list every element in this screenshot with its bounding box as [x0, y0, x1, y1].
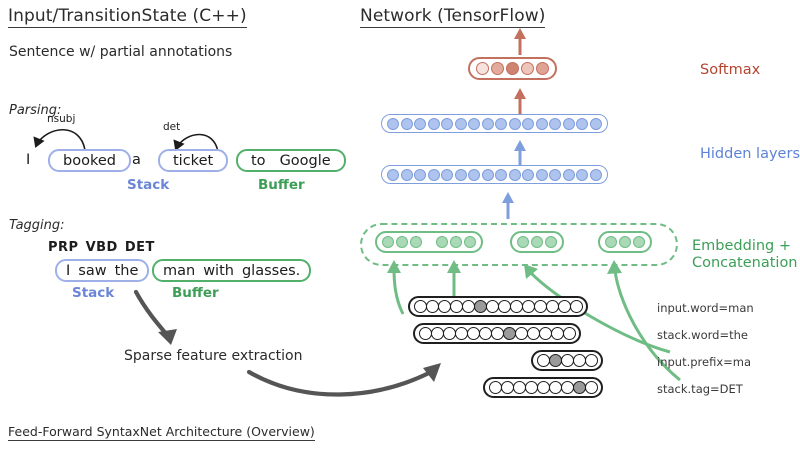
embedding-unit-0-1-1	[450, 236, 462, 248]
sparse-unit-3-3	[525, 381, 538, 394]
hidden-top-unit-7	[482, 118, 494, 130]
sparse-feature-row-3[interactable]	[483, 377, 603, 398]
embedding-unit-0-0-2	[410, 236, 422, 248]
hidden-top-unit-2	[414, 118, 426, 130]
hidden-bottom-unit-9	[509, 169, 521, 181]
softmax-unit-1	[491, 62, 504, 75]
embedding-group-2[interactable]	[598, 231, 652, 253]
subtitle-text: Sentence w/ partial annotations	[9, 44, 232, 60]
hidden-layers-label: Hidden layers	[700, 146, 800, 162]
softmax-label: Softmax	[700, 62, 760, 78]
tagging-stack-token-the: the	[111, 263, 143, 279]
embedding-segment-1-0	[517, 236, 557, 248]
sparse-unit-0-11	[546, 300, 559, 313]
pos-tag-det: DET	[125, 240, 155, 255]
embedding-unit-2-0-2	[633, 236, 645, 248]
parsing-token-i: I	[26, 152, 30, 168]
hidden-bottom-unit-13	[563, 169, 575, 181]
hidden-top-unit-0	[387, 118, 399, 130]
right-section-title: Network (TensorFlow)	[360, 6, 545, 28]
softmax-unit-4	[536, 62, 549, 75]
tagging-buffer-box[interactable]: man with glasses.	[152, 259, 311, 282]
arrow-embedding-hidden	[500, 192, 516, 220]
tagging-stack-token-saw: saw	[74, 263, 110, 279]
hidden-layer-top[interactable]	[381, 114, 608, 133]
hidden-top-unit-15	[590, 118, 602, 130]
hidden-top-unit-4	[441, 118, 453, 130]
softmax-unit-2	[506, 62, 519, 75]
embedding-unit-2-0-1	[619, 236, 631, 248]
tagging-buffer-token-glasses: glasses.	[238, 263, 304, 279]
arrow-hidden-bottom-top	[512, 140, 528, 168]
hidden-bottom-unit-15	[590, 169, 602, 181]
tagging-heading: Tagging:	[9, 218, 65, 233]
sparse-unit-2-1	[549, 354, 562, 367]
sparse-unit-1-6	[491, 327, 504, 340]
hidden-bottom-unit-3	[428, 169, 440, 181]
sparse-unit-0-12	[558, 300, 571, 313]
sparse-unit-3-1	[501, 381, 514, 394]
embedding-unit-0-1-0	[436, 236, 448, 248]
hidden-top-unit-3	[428, 118, 440, 130]
sparse-feature-row-2[interactable]	[531, 350, 603, 371]
sparse-unit-0-13	[570, 300, 583, 313]
parsing-buffer-token-google: Google	[276, 153, 335, 169]
embedding-unit-1-0-0	[517, 236, 529, 248]
sparse-unit-1-3	[455, 327, 468, 340]
sparse-unit-3-2	[513, 381, 526, 394]
hidden-bottom-unit-11	[536, 169, 548, 181]
sparse-unit-3-4	[537, 381, 550, 394]
hidden-bottom-unit-5	[455, 169, 467, 181]
parsing-buffer-label: Buffer	[258, 177, 305, 193]
sparse-feature-label-3: stack.tag=DET	[657, 382, 743, 396]
sparse-unit-0-10	[534, 300, 547, 313]
sparse-unit-1-10	[539, 327, 552, 340]
hidden-top-unit-9	[509, 118, 521, 130]
sparse-unit-1-9	[527, 327, 540, 340]
hidden-bottom-unit-10	[522, 169, 534, 181]
tagging-stack-token-i: I	[62, 263, 74, 279]
sparse-unit-0-8	[510, 300, 523, 313]
sparse-unit-3-8	[585, 381, 598, 394]
hidden-top-unit-6	[468, 118, 480, 130]
embedding-segment-0-0	[382, 236, 422, 248]
sparse-unit-0-2	[438, 300, 451, 313]
embedding-unit-0-1-2	[464, 236, 476, 248]
hidden-bottom-unit-6	[468, 169, 480, 181]
tagging-buffer-token-with: with	[199, 263, 238, 279]
sparse-feature-label-2: input.prefix=ma	[657, 355, 751, 369]
arrow-softmax-output	[512, 28, 528, 56]
sparse-unit-1-1	[431, 327, 444, 340]
embedding-segment-0-1	[436, 236, 476, 248]
sparse-unit-1-12	[563, 327, 576, 340]
sparse-unit-0-6	[486, 300, 499, 313]
hidden-top-unit-14	[576, 118, 588, 130]
sparse-unit-0-7	[498, 300, 511, 313]
arc-label-det: det	[163, 121, 180, 133]
sparse-unit-1-7	[503, 327, 516, 340]
sparse-unit-3-0	[489, 381, 502, 394]
left-section-title: Input/TransitionState (C++)	[8, 6, 247, 28]
hidden-bottom-unit-1	[401, 169, 413, 181]
hidden-bottom-unit-7	[482, 169, 494, 181]
hidden-layer-bottom[interactable]	[381, 165, 608, 184]
parsing-buffer-box[interactable]: to Google	[236, 149, 346, 172]
embedding-unit-0-0-1	[396, 236, 408, 248]
sparse-unit-0-0	[414, 300, 427, 313]
sparse-unit-0-4	[462, 300, 475, 313]
sparse-unit-1-8	[515, 327, 528, 340]
sparse-unit-0-9	[522, 300, 535, 313]
hidden-top-unit-8	[495, 118, 507, 130]
parsing-stack-box-booked[interactable]: booked	[48, 149, 131, 172]
sparse-unit-2-3	[573, 354, 586, 367]
pos-tag-prp: PRP	[48, 240, 79, 255]
embedding-unit-1-0-1	[531, 236, 543, 248]
sparse-unit-0-3	[450, 300, 463, 313]
embedding-label-line1: Embedding +	[692, 238, 798, 255]
sparse-unit-2-2	[561, 354, 574, 367]
hidden-top-unit-12	[549, 118, 561, 130]
sparse-feature-row-0[interactable]	[408, 296, 588, 317]
tagging-stack-label: Stack	[72, 285, 114, 301]
figure-caption: Feed-Forward SyntaxNet Architecture (Ove…	[8, 424, 315, 441]
parsing-token-booked: booked	[59, 153, 120, 169]
diagram-root: Input/TransitionState (C++) Sentence w/ …	[0, 0, 800, 450]
arrow-hidden-softmax	[512, 88, 528, 116]
parsing-token-a: a	[132, 152, 141, 168]
tagging-buffer-token-man: man	[159, 263, 199, 279]
hidden-bottom-unit-4	[441, 169, 453, 181]
sparse-unit-2-0	[537, 354, 550, 367]
parsing-token-ticket: ticket	[169, 153, 217, 169]
sparse-feature-label-1: stack.word=the	[657, 328, 748, 342]
sparse-unit-1-11	[551, 327, 564, 340]
sparse-unit-3-7	[573, 381, 586, 394]
embedding-group-0[interactable]	[375, 231, 483, 253]
hidden-top-unit-5	[455, 118, 467, 130]
embedding-segment-2-0	[605, 236, 645, 248]
hidden-top-unit-10	[522, 118, 534, 130]
hidden-bottom-unit-2	[414, 169, 426, 181]
embedding-gap-0-1	[424, 236, 434, 248]
embedding-group-1[interactable]	[510, 231, 564, 253]
tagging-stack-box[interactable]: I saw the	[55, 259, 149, 282]
sparse-unit-2-4	[585, 354, 598, 367]
hidden-bottom-unit-14	[576, 169, 588, 181]
parsing-stack-label: Stack	[127, 177, 169, 193]
sparse-unit-1-5	[479, 327, 492, 340]
sparse-unit-3-5	[549, 381, 562, 394]
embedding-unit-2-0-0	[605, 236, 617, 248]
sparse-feature-row-1[interactable]	[413, 323, 581, 344]
sparse-feature-label-0: input.word=man	[657, 301, 754, 315]
parsing-buffer-token-to: to	[247, 153, 276, 169]
hidden-top-unit-11	[536, 118, 548, 130]
pos-tag-vbd: VBD	[86, 240, 118, 255]
softmax-unit-0	[476, 62, 489, 75]
hidden-bottom-unit-8	[495, 169, 507, 181]
hidden-bottom-unit-0	[387, 169, 399, 181]
hidden-bottom-unit-12	[549, 169, 561, 181]
sparse-unit-0-5	[474, 300, 487, 313]
hidden-top-unit-1	[401, 118, 413, 130]
sparse-unit-0-1	[426, 300, 439, 313]
embedding-unit-1-0-2	[545, 236, 557, 248]
sparse-unit-3-6	[561, 381, 574, 394]
parsing-stack-box-ticket[interactable]: ticket	[158, 149, 228, 172]
arc-label-nsubj: nsubj	[47, 113, 75, 125]
embedding-unit-0-0-0	[382, 236, 394, 248]
softmax-unit-3	[521, 62, 534, 75]
sparse-unit-1-4	[467, 327, 480, 340]
softmax-layer[interactable]	[468, 57, 557, 80]
sparse-unit-1-0	[419, 327, 432, 340]
hidden-top-unit-13	[563, 118, 575, 130]
tagging-pos-tags: PRP VBD DET	[48, 240, 155, 255]
sparse-unit-1-2	[443, 327, 456, 340]
